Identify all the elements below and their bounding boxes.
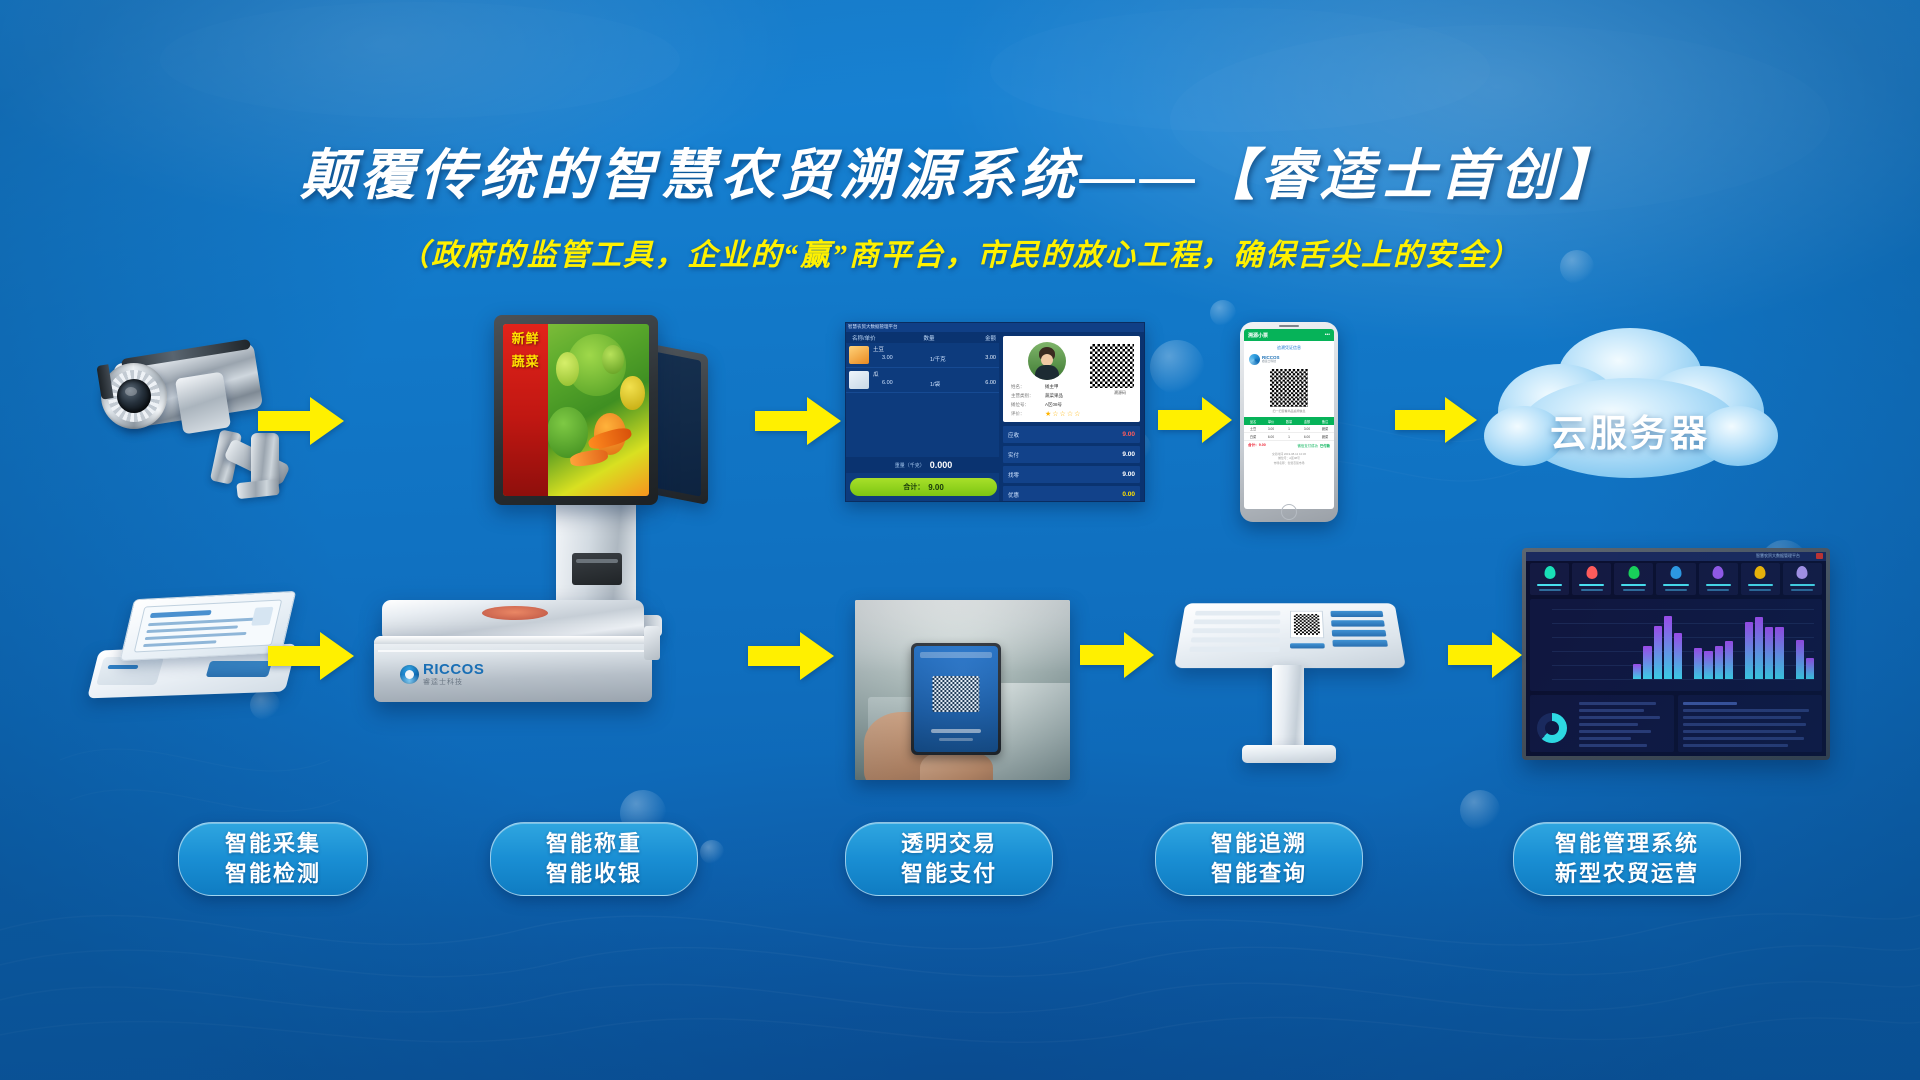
dashboard-kpi-card[interactable] (1783, 563, 1822, 595)
phone-td-1-2: 1 (1280, 435, 1298, 439)
riccos-logo-icon (400, 665, 419, 684)
caption-pay-line1: 透明交易 (901, 829, 997, 859)
cashier-vendor-value-2: A区08号 (1045, 402, 1062, 408)
phone-td-0-0: 土豆 (1244, 426, 1262, 431)
phone-footer-2: 市场名称：智慧农贸市场 (1244, 461, 1334, 465)
dashboard-bar-chart (1530, 599, 1822, 691)
cashier-weight-value: 0.000 (930, 460, 953, 470)
cashier-item-1-amount: 3.00 (985, 355, 996, 361)
phone-status-badge: 已付款 (1320, 443, 1330, 448)
phone-th-0: 品名 (1244, 419, 1262, 424)
cashier-item-2-amount: 6.00 (985, 380, 996, 386)
phone-td-1-3: 6.00 (1298, 435, 1316, 439)
phone-th-4: 备注 (1316, 419, 1334, 424)
dashboard-title-bar: 智慧农贸大数据管理平台 (1526, 552, 1826, 561)
arrow-kiosk-to-dashboard (1448, 630, 1522, 680)
caption-trace-line1: 智能追溯 (1211, 829, 1307, 859)
riccos-logo-en: RICCOS (423, 662, 484, 677)
close-icon[interactable] (1816, 553, 1823, 559)
phone-header-action[interactable]: ••• (1325, 332, 1330, 338)
chart-bar (1745, 622, 1753, 679)
dashboard-category-panel (1530, 695, 1674, 752)
riccos-logo-cn: 睿逵士科技 (423, 679, 484, 686)
phone-td-1-4: 蔬菜 (1316, 434, 1334, 439)
dashboard-kpi-row (1530, 563, 1822, 595)
mobile-payment-icon (855, 600, 1070, 780)
chart-bars (1552, 609, 1814, 679)
cashier-vendor-label-1: 主营类别： (1011, 393, 1034, 399)
dashboard-kpi-card[interactable] (1656, 563, 1695, 595)
dashboard-kpi-card[interactable] (1699, 563, 1738, 595)
phone-td-0-2: 1 (1280, 427, 1298, 431)
pos-banner-line2: 蔬菜 (503, 347, 548, 370)
chart-bar (1694, 648, 1702, 679)
cashier-window-title: 智慧农贸大数据管理平台 (848, 324, 898, 330)
chart-bar (1775, 627, 1783, 679)
chart-bar (1755, 617, 1763, 679)
caption-weigh-line2: 智能收银 (546, 859, 642, 889)
dashboard-kpi-card[interactable] (1614, 563, 1653, 595)
cashier-amount-label-2: 找零 (1008, 471, 1122, 479)
chart-bar (1715, 646, 1723, 679)
cashier-vendor-label-0: 姓名： (1011, 384, 1025, 390)
caption-weigh-line1: 智能称重 (546, 829, 642, 859)
chart-bar (1765, 627, 1773, 680)
cashier-item-1-price: 3.00 (882, 355, 893, 361)
chart-bar (1704, 651, 1712, 679)
chart-bar (1654, 626, 1662, 679)
caption-pill-manage: 智能管理系统 新型农贸运营 (1513, 822, 1741, 896)
page-subtitle: （政府的监管工具，企业的“赢”商平台，市民的放心工程，确保舌尖上的安全） (0, 230, 1920, 274)
dashboard-kpi-card[interactable] (1530, 563, 1569, 595)
donut-chart (1537, 713, 1567, 743)
cashier-vendor-label-3: 评价： (1011, 411, 1025, 417)
chart-bar (1674, 633, 1682, 679)
cashier-item-2-unit: 1/袋 (930, 380, 940, 388)
caption-manage-line1: 智能管理系统 (1555, 829, 1699, 859)
smart-scale-icon: RICCOS 睿逵士科技 (370, 600, 660, 725)
cashier-amount-value-2: 9.00 (1122, 471, 1135, 478)
cashier-col-name: 名称/单价 (846, 334, 902, 342)
mobile-traceability-receipt-icon: 溯源小票 ••• 追溯凭证信息 RICCOS 睿逵士科技 扫一扫查看商品追溯信息… (1240, 322, 1338, 522)
title-block: 颠覆传统的智慧农贸溯源系统——【睿逵士首创】 （政府的监管工具，企业的“赢”商平… (0, 130, 1920, 274)
cashier-vendor-value-1: 蔬菜果品 (1045, 393, 1063, 399)
phone-th-2: 数量 (1280, 419, 1298, 424)
phone-total: 合计：9.00 (1248, 443, 1297, 448)
cashier-amount-value-1: 9.00 (1122, 451, 1135, 458)
phone-qr-caption: 扫一扫查看商品追溯信息 (1244, 409, 1334, 413)
dashboard-kpi-card[interactable] (1741, 563, 1780, 595)
cashier-rating-stars: ★☆☆☆☆ (1045, 410, 1081, 418)
arrow-camera-to-pos (258, 395, 344, 447)
phone-pay-label: 微信支付成功 (1297, 443, 1317, 448)
caption-collect-line2: 智能检测 (225, 859, 321, 889)
caption-manage-line2: 新型农贸运营 (1555, 859, 1699, 889)
cashier-software-screen: 智慧农贸大数据管理平台 名称/单价 数量 金额 土豆 3.00 1/千克 3.0… (845, 322, 1145, 502)
phone-td-1-1: 6.00 (1262, 435, 1280, 439)
chart-bar (1796, 640, 1804, 679)
phone-td-0-4: 蔬菜 (1316, 426, 1334, 431)
query-kiosk-icon (1180, 595, 1400, 775)
caption-trace-line2: 智能查询 (1211, 859, 1307, 889)
cashier-item-1-unit: 1/千克 (930, 355, 946, 363)
arrow-detector-to-scale (268, 630, 354, 682)
cashier-item-2-price: 6.00 (882, 380, 893, 386)
chart-bar (1664, 616, 1672, 679)
phone-td-0-3: 3.00 (1298, 427, 1316, 431)
phone-td-0-1: 3.00 (1262, 427, 1280, 431)
phone-th-1: 单价 (1262, 419, 1280, 424)
cashier-amount-value-3: 0.00 (1122, 491, 1135, 498)
phone-td-1-0: 白菜 (1244, 434, 1262, 439)
caption-collect-line1: 智能采集 (225, 829, 321, 859)
caption-pill-weigh: 智能称重 智能收银 (490, 822, 698, 896)
caption-pill-trace: 智能追溯 智能查询 (1155, 822, 1363, 896)
cashier-amount-label-1: 实付 (1008, 451, 1122, 459)
cloud-server-icon: 云服务器 (1480, 320, 1780, 490)
arrow-receipt-to-phone (1158, 395, 1232, 445)
cloud-server-label: 云服务器 (1480, 403, 1780, 457)
arrow-scale-to-pay (748, 630, 834, 682)
cashier-vendor-value-0: 摊主甲 (1045, 384, 1059, 390)
chart-bar (1633, 664, 1641, 679)
dashboard-monitor-icon: 智慧农贸大数据管理平台 (1522, 548, 1830, 760)
pos-terminal-icon: 新鲜 蔬菜 (480, 315, 760, 645)
cashier-weight-label: 重量（千克） (895, 462, 925, 469)
dashboard-transactions-panel (1678, 695, 1822, 752)
caption-pill-pay: 透明交易 智能支付 (845, 822, 1053, 896)
phone-header-title: 溯源小票 (1248, 332, 1325, 339)
cashier-item-1-name: 土豆 (873, 345, 884, 353)
cashier-col-qty: 数量 (902, 334, 956, 342)
cashier-amount-value-0: 9.00 (1122, 431, 1135, 438)
dashboard-window-title: 智慧农贸大数据管理平台 (1756, 553, 1800, 559)
phone-th-3: 金额 (1298, 419, 1316, 424)
caption-pill-collect: 智能采集 智能检测 (178, 822, 368, 896)
cashier-item-2-name: 瓜 (873, 370, 879, 378)
cashier-amount-label-0: 应收 (1008, 431, 1122, 439)
cashier-col-amount: 金额 (956, 334, 1001, 342)
cashier-vendor-label-2: 摊位号： (1011, 402, 1029, 408)
cashier-qr-caption: 溯源码 (1114, 390, 1126, 396)
page-title: 颠覆传统的智慧农贸溯源系统——【睿逵士首创】 (0, 130, 1920, 210)
cashier-total-label: 合计： (903, 482, 924, 492)
chart-bar (1806, 658, 1814, 679)
cashier-amount-label-3: 优惠 (1008, 491, 1122, 499)
chart-bar (1643, 646, 1651, 679)
pos-banner-line1: 新鲜 (503, 324, 548, 347)
caption-pay-line2: 智能支付 (901, 859, 997, 889)
chart-bar (1725, 641, 1733, 679)
arrow-phone-to-cloud (1395, 395, 1477, 445)
arrow-pay-to-kiosk (1080, 630, 1154, 680)
dashboard-kpi-card[interactable] (1572, 563, 1611, 595)
cashier-total-value: 9.00 (928, 483, 944, 492)
phone-logo-cn: 睿逵士科技 (1262, 360, 1280, 363)
arrow-pos-to-receipt (755, 395, 841, 447)
